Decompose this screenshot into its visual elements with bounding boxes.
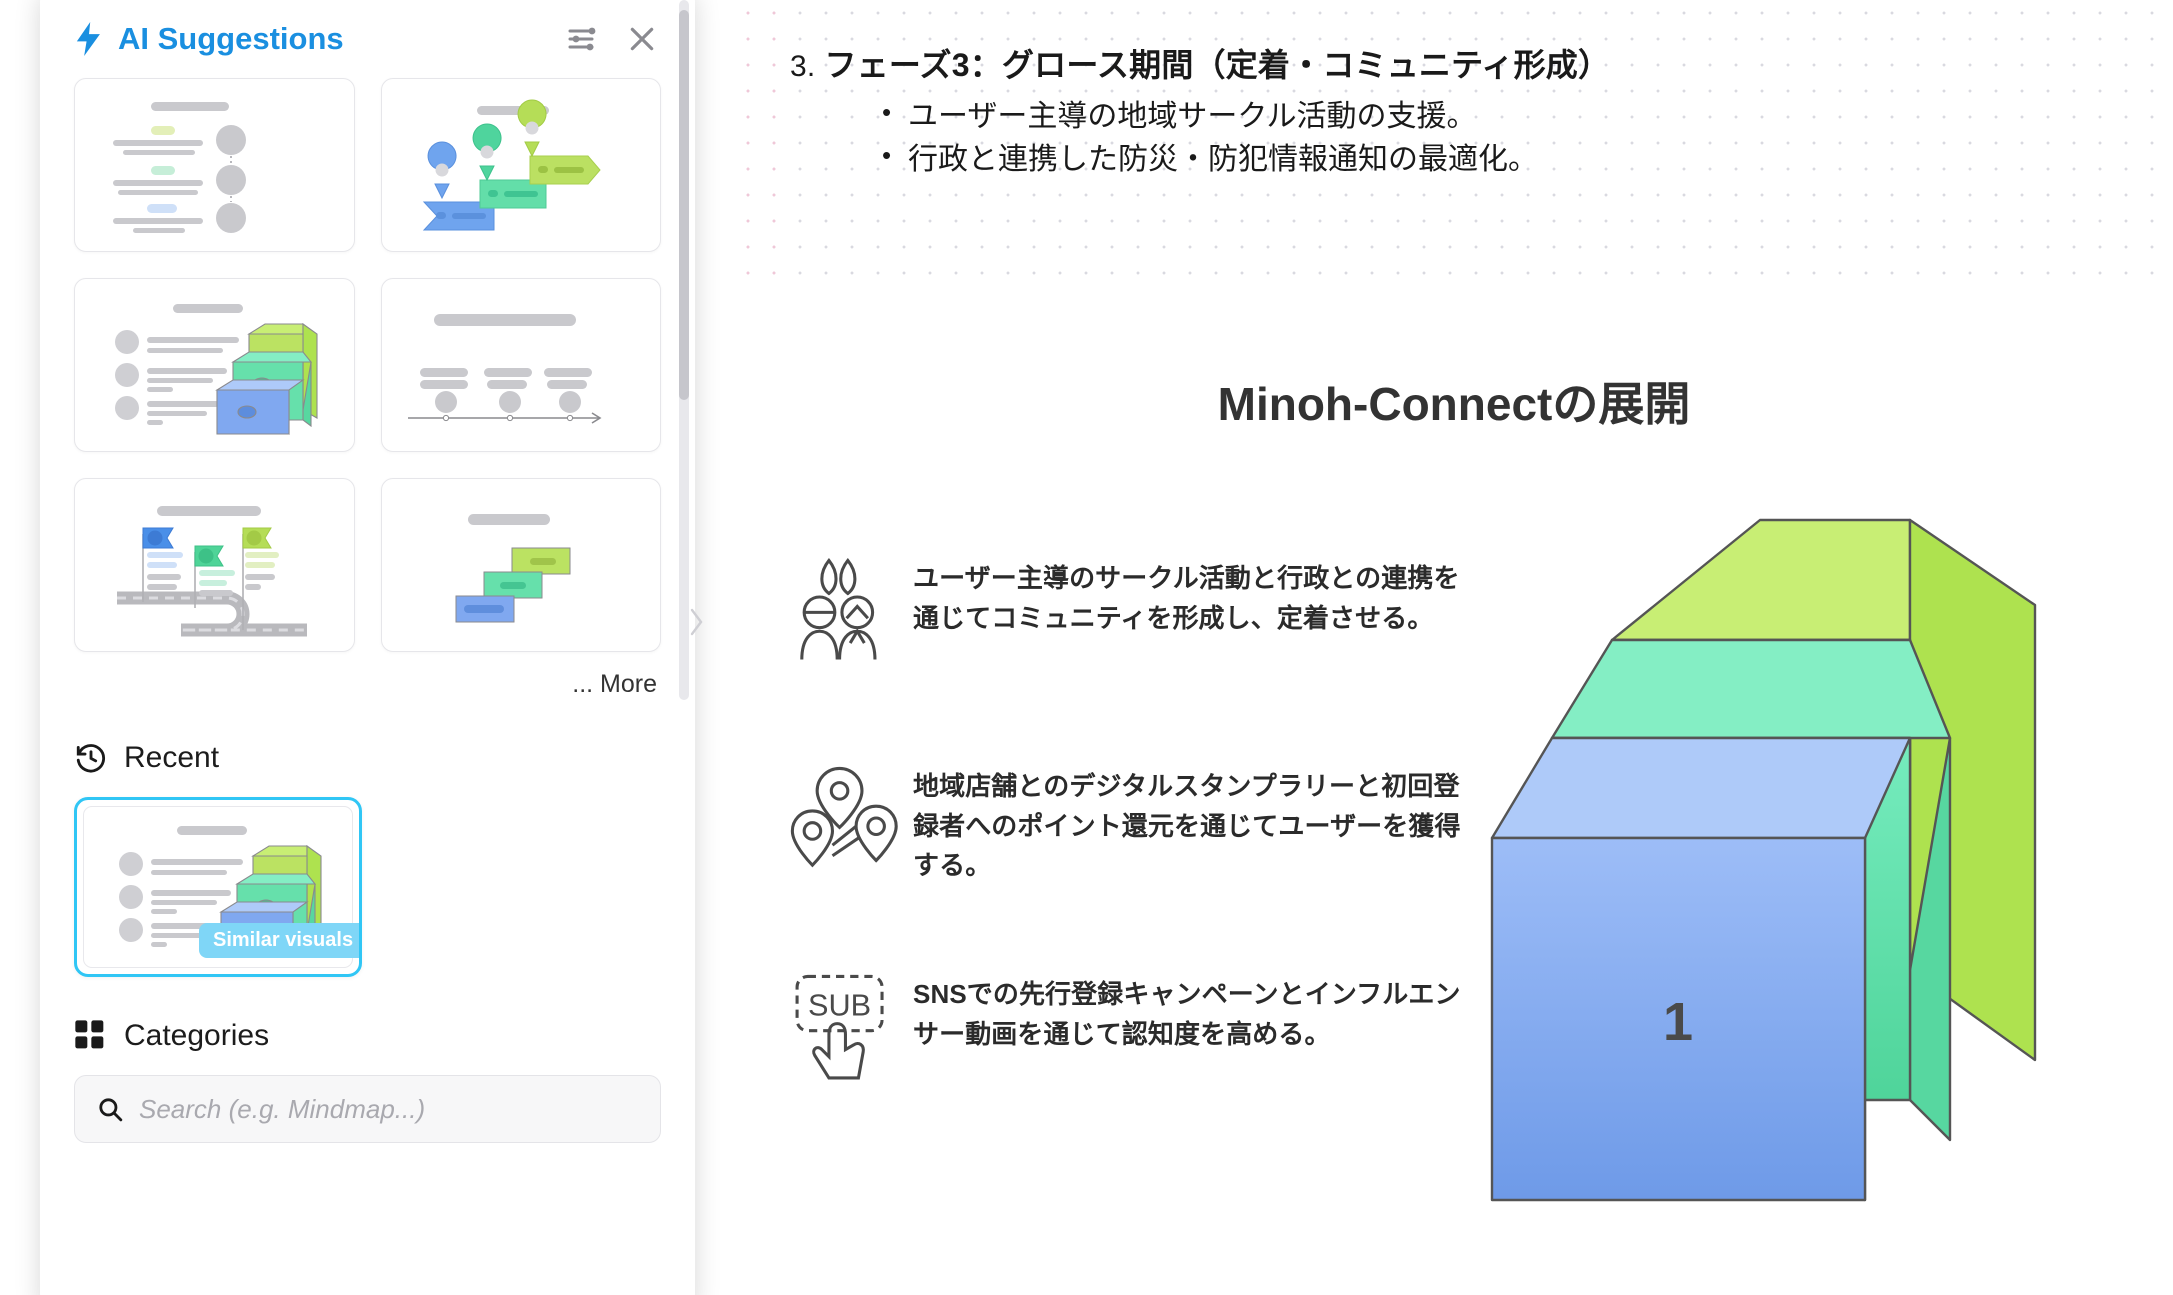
- slide-row[interactable]: ユーザー主導のサークル活動と行政との連携を通じてコミュニティを形成し、定着させる…: [785, 545, 1485, 695]
- recent-section-header: Recent: [74, 741, 661, 775]
- search-input[interactable]: [139, 1094, 638, 1125]
- categories-section-header: Categories: [74, 1019, 661, 1053]
- slide-row-text: ユーザー主導のサークル活動と行政との連携を通じてコミュニティを形成し、定着させる…: [913, 545, 1473, 638]
- slide-row-text: SNSでの先行登録キャンペーンとインフルエンサー動画を通じて認知度を高める。: [913, 961, 1473, 1054]
- document-bullet: ユーザー主導の地域サークル活動の支援。: [880, 96, 2130, 139]
- panel-title: AI Suggestions: [118, 21, 344, 57]
- app-root: 3. フェーズ3：グロース期間（定着・コミュニティ形成） ユーザー主導の地域サー…: [0, 0, 2173, 1295]
- horizontal-timeline-thumbnail[interactable]: [381, 278, 662, 452]
- sliders-filter-icon[interactable]: [567, 25, 601, 53]
- panel-collapse-chevron-icon[interactable]: [683, 590, 709, 654]
- panel-scrollbar-thumb[interactable]: [679, 10, 689, 400]
- dot-grid-pink-edge: [735, 0, 795, 290]
- recent-heading: Recent: [124, 741, 219, 775]
- map-pins-icon: [785, 753, 913, 877]
- stair-blocks-3d-diagram[interactable]: 3 2 1: [1490, 500, 2110, 1225]
- sub-button-hand-icon: SUB: [785, 961, 913, 1085]
- panel-header: AI Suggestions: [74, 0, 661, 78]
- slide-row[interactable]: 地域店舗とのデジタルスタンプラリーと初回登録者へのポイント還元を通じてユーザーを…: [785, 753, 1485, 903]
- more-suggestions-link[interactable]: ... More: [74, 670, 661, 699]
- document-heading-text: フェーズ3：グロース期間（定着・コミュニティ形成）: [825, 47, 1611, 83]
- roadmap-flags-thumbnail[interactable]: [74, 478, 355, 652]
- document-bullet: 行政と連携した防災・防犯情報通知の最適化。: [880, 139, 2130, 182]
- close-icon[interactable]: [627, 24, 657, 54]
- categories-heading: Categories: [124, 1019, 269, 1053]
- search-icon: [97, 1096, 123, 1122]
- chevron-steps-thumbnail[interactable]: [381, 78, 662, 252]
- slide-title: Minoh-Connectの展開: [735, 368, 2173, 434]
- slide-row[interactable]: SUB SNSでの先行登録キャンペーンとインフルエンサー動画を通じて認知度を高め…: [785, 961, 1485, 1111]
- svg-text:SUB: SUB: [808, 988, 871, 1022]
- recent-thumbnail-card[interactable]: Similar visuals: [74, 797, 362, 977]
- lightning-bolt-icon: [74, 22, 104, 56]
- document-text-block[interactable]: 3. フェーズ3：グロース期間（定着・コミュニティ形成） ユーザー主導の地域サー…: [790, 40, 2130, 181]
- similar-visuals-badge: Similar visuals: [199, 923, 362, 958]
- slide-row-text: 地域店舗とのデジタルスタンプラリーと初回登録者へのポイント還元を通じてユーザーを…: [913, 753, 1473, 886]
- ai-suggestions-panel[interactable]: AI Suggestions: [40, 0, 695, 1295]
- suggestion-thumbnail-grid: [74, 78, 661, 652]
- flat-steps-thumbnail[interactable]: [381, 478, 662, 652]
- history-clock-icon: [74, 741, 108, 775]
- slide-row-list: ユーザー主導のサークル活動と行政との連携を通じてコミュニティを形成し、定着させる…: [785, 545, 1485, 1169]
- document-bullet-list: ユーザー主導の地域サークル活動の支援。 行政と連携した防災・防犯情報通知の最適化…: [790, 96, 2130, 181]
- document-heading-number: 3.: [790, 50, 815, 83]
- svg-text:1: 1: [1663, 992, 1693, 1052]
- two-people-community-icon: [785, 545, 913, 669]
- stair-blocks-3d-thumbnail[interactable]: [74, 278, 355, 452]
- grid-squares-icon: [74, 1019, 108, 1053]
- category-search-box[interactable]: [74, 1075, 661, 1143]
- timeline-list-thumbnail[interactable]: [74, 78, 355, 252]
- document-heading: 3. フェーズ3：グロース期間（定着・コミュニティ形成）: [790, 40, 2130, 86]
